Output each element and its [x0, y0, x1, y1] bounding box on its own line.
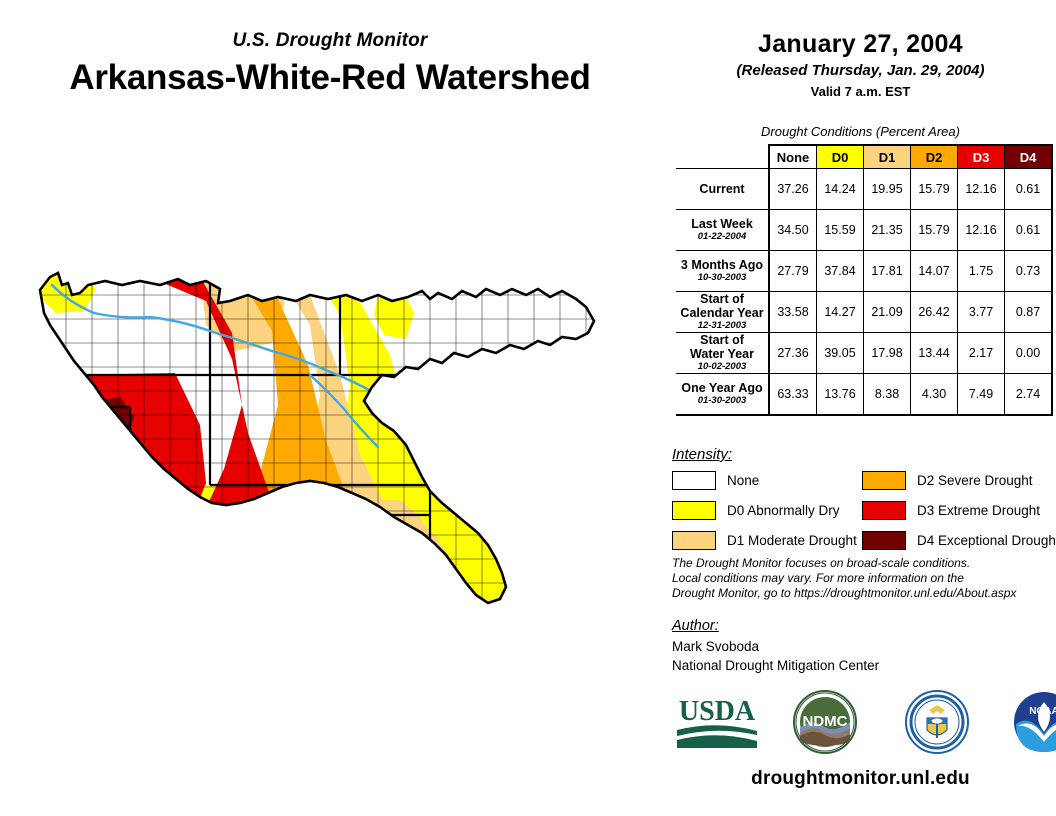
region-d3-southwest [68, 373, 206, 555]
table-row: Current37.2614.2419.9515.7912.160.61 [676, 169, 1052, 210]
table-row: 3 Months Ago10-30-200327.7937.8417.8114.… [676, 251, 1052, 292]
row-label-name: Current [680, 182, 764, 196]
column-header-d0: D0 [817, 145, 864, 169]
legend-label: D0 Abnormally Dry [727, 503, 840, 518]
table-cell-none: 34.50 [769, 210, 817, 251]
row-label-name: One Year Ago [680, 381, 764, 395]
legend-item: D1 Moderate Drought [672, 528, 857, 552]
table-row: One Year Ago01-30-200363.3313.768.384.30… [676, 374, 1052, 415]
left-header-block: U.S. Drought Monitor Arkansas-White-Red … [0, 30, 660, 98]
row-label-date: 01-22-2004 [680, 231, 764, 243]
date-header-block: January 27, 2004 (Released Thursday, Jan… [665, 30, 1056, 99]
table-cell-d1: 21.35 [864, 210, 911, 251]
table-cell-none: 33.58 [769, 292, 817, 333]
commerce-seal-logo [905, 690, 969, 754]
table-cell-d0: 39.05 [817, 333, 864, 374]
table-cell-d3: 3.77 [958, 292, 1005, 333]
legend-swatch-left-0 [672, 471, 716, 490]
disclaimer-line-2: Local conditions may vary. For more info… [672, 571, 1056, 586]
disclaimer-line-3: Drought Monitor, go to https://droughtmo… [672, 586, 1056, 601]
column-header-d1: D1 [864, 145, 911, 169]
svg-text:USDA: USDA [679, 696, 756, 727]
footer-url: droughtmonitor.unl.edu [665, 768, 1056, 790]
table-cell-d2: 4.30 [911, 374, 958, 415]
column-header-none: None [769, 145, 817, 169]
legend-swatch-right-2 [862, 531, 906, 550]
row-label-name: Start of [680, 292, 764, 306]
logo-row: USDA NDMC NOAA [660, 690, 1056, 756]
author-name: Mark Svoboda [672, 637, 879, 656]
table-cell-d3: 12.16 [958, 169, 1005, 210]
legend-swatch-right-1 [862, 501, 906, 520]
row-label-name: Last Week [680, 217, 764, 231]
disclaimer-line-1: The Drought Monitor focuses on broad-sca… [672, 556, 1056, 571]
map-drought-regions [10, 255, 660, 635]
table-cell-none: 27.36 [769, 333, 817, 374]
svg-text:NOAA: NOAA [1029, 706, 1056, 717]
table-row: Last Week01-22-200434.5015.5921.3515.791… [676, 210, 1052, 251]
author-heading: Author: [672, 618, 719, 634]
table-cell-d3: 1.75 [958, 251, 1005, 292]
table-cell-none: 63.33 [769, 374, 817, 415]
row-label-name: Start of [680, 333, 764, 347]
column-header-d2: D2 [911, 145, 958, 169]
disclaimer-text: The Drought Monitor focuses on broad-sca… [672, 556, 1056, 601]
legend-column-right: D2 Severe DroughtD3 Extreme DroughtD4 Ex… [862, 468, 1056, 558]
table-cell-d4: 0.00 [1005, 333, 1053, 374]
table-cell-d0: 14.24 [817, 169, 864, 210]
row-label: Start ofCalendar Year12-31-2003 [676, 292, 769, 333]
svg-text:NDMC: NDMC [803, 713, 848, 730]
table-cell-d1: 17.98 [864, 333, 911, 374]
row-label-date: 01-30-2003 [680, 395, 764, 407]
row-label-date: 12-31-2003 [680, 320, 764, 332]
legend-label: D3 Extreme Drought [917, 503, 1040, 518]
table-cell-d1: 19.95 [864, 169, 911, 210]
region-d1-south [160, 500, 460, 615]
table-cell-d1: 21.09 [864, 292, 911, 333]
table-cell-d3: 7.49 [958, 374, 1005, 415]
table-corner-cell [676, 145, 769, 169]
page-subtitle: U.S. Drought Monitor [0, 30, 660, 52]
table-cell-d2: 26.42 [911, 292, 958, 333]
legend-label: None [727, 473, 759, 488]
release-date: (Released Thursday, Jan. 29, 2004) [665, 62, 1056, 79]
author-organization: National Drought Mitigation Center [672, 656, 879, 675]
table-cell-d2: 14.07 [911, 251, 958, 292]
table-cell-d2: 15.79 [911, 169, 958, 210]
table-cell-none: 37.26 [769, 169, 817, 210]
legend-item: D3 Extreme Drought [862, 498, 1056, 522]
row-label: Current [676, 169, 769, 210]
ndmc-logo: NDMC [792, 690, 858, 754]
legend-label: D2 Severe Drought [917, 473, 1033, 488]
legend-swatch-right-0 [862, 471, 906, 490]
region-d2-south [158, 510, 406, 615]
table-cell-d3: 12.16 [958, 210, 1005, 251]
table-cell-none: 27.79 [769, 251, 817, 292]
legend-item: None [672, 468, 857, 492]
row-label: One Year Ago01-30-2003 [676, 374, 769, 415]
table-cell-d4: 2.74 [1005, 374, 1053, 415]
drought-map [10, 255, 660, 635]
column-header-d4: D4 [1005, 145, 1053, 169]
table-cell-d0: 13.76 [817, 374, 864, 415]
table-cell-d3: 2.17 [958, 333, 1005, 374]
row-label-date: 10-02-2003 [680, 361, 764, 373]
table-cell-d2: 15.79 [911, 210, 958, 251]
usda-logo: USDA [672, 690, 762, 752]
legend-label: D4 Exceptional Drought [917, 533, 1056, 548]
legend-label: D1 Moderate Drought [727, 533, 857, 548]
table-cell-d4: 0.87 [1005, 292, 1053, 333]
table-cell-d0: 37.84 [817, 251, 864, 292]
row-label: 3 Months Ago10-30-2003 [676, 251, 769, 292]
table-caption: Drought Conditions (Percent Area) [665, 124, 1056, 139]
table-cell-d0: 14.27 [817, 292, 864, 333]
page-title: Arkansas-White-Red Watershed [0, 58, 660, 98]
table-cell-d0: 15.59 [817, 210, 864, 251]
author-block: Mark Svoboda National Drought Mitigation… [672, 637, 879, 675]
row-label-name: Water Year [680, 347, 764, 361]
table-header-row: None D0 D1 D2 D3 D4 [676, 145, 1052, 169]
table-row: Start ofWater Year10-02-200327.3639.0517… [676, 333, 1052, 374]
row-label-name: Calendar Year [680, 306, 764, 320]
legend-swatch-left-1 [672, 501, 716, 520]
legend-item: D4 Exceptional Drought [862, 528, 1056, 552]
map-date: January 27, 2004 [665, 30, 1056, 59]
table-cell-d2: 13.44 [911, 333, 958, 374]
legend-title: Intensity: [672, 446, 732, 463]
row-label: Start ofWater Year10-02-2003 [676, 333, 769, 374]
legend-column-left: NoneD0 Abnormally DryD1 Moderate Drought [672, 468, 857, 558]
table-cell-d1: 17.81 [864, 251, 911, 292]
table-cell-d1: 8.38 [864, 374, 911, 415]
column-header-d3: D3 [958, 145, 1005, 169]
row-label: Last Week01-22-2004 [676, 210, 769, 251]
row-label-name: 3 Months Ago [680, 258, 764, 272]
legend-item: D2 Severe Drought [862, 468, 1056, 492]
drought-conditions-table: None D0 D1 D2 D3 D4 Current37.2614.2419.… [676, 144, 1053, 416]
row-label-date: 10-30-2003 [680, 272, 764, 284]
table-cell-d4: 0.73 [1005, 251, 1053, 292]
noaa-logo: NOAA [1012, 690, 1056, 754]
table-cell-d4: 0.61 [1005, 210, 1053, 251]
valid-time: Valid 7 a.m. EST [665, 84, 1056, 99]
table-row: Start ofCalendar Year12-31-200333.5814.2… [676, 292, 1052, 333]
legend-item: D0 Abnormally Dry [672, 498, 857, 522]
legend-swatch-left-2 [672, 531, 716, 550]
table-cell-d4: 0.61 [1005, 169, 1053, 210]
